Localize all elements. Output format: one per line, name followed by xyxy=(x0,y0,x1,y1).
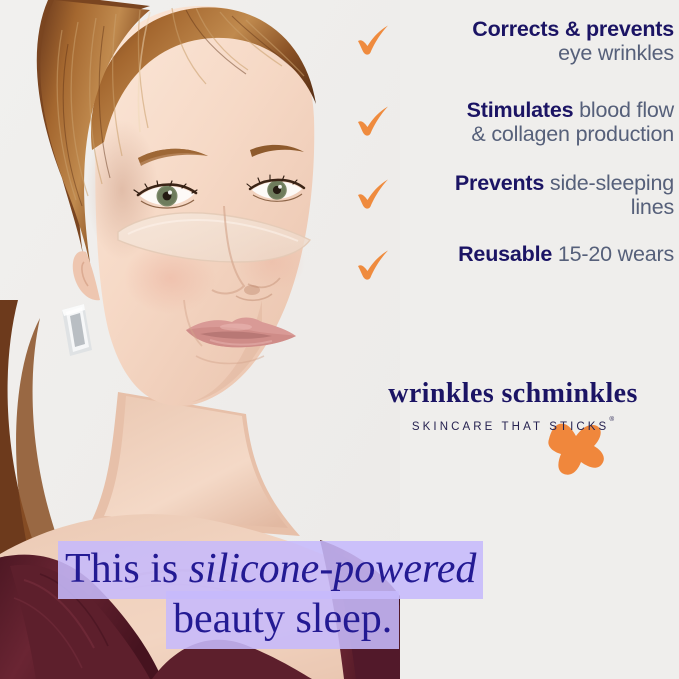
brand-wordmark: wrinkles schminkles xyxy=(352,380,674,408)
brand-tagline-text: SKINCARE THAT STICKS xyxy=(412,421,609,433)
benefit-text: Corrects & prevents eye wrinkles xyxy=(400,14,674,65)
orange-check-icon xyxy=(352,172,396,216)
orange-check-icon xyxy=(352,99,396,143)
orange-check-icon xyxy=(352,18,396,62)
model-photo xyxy=(0,0,400,679)
brand-logo: wrinkles schminkles SKINCARE THAT STICKS… xyxy=(352,380,674,459)
benefit-item: Corrects & prevents eye wrinkles xyxy=(352,14,674,65)
benefit-strong: Stimulates xyxy=(467,98,574,122)
benefit-text: Reusable 15-20 wears xyxy=(400,239,674,266)
benefit-strong: Reusable xyxy=(458,242,552,266)
brand-tagline-wrap: SKINCARE THAT STICKS® xyxy=(352,417,674,459)
benefit-light: blood flow xyxy=(573,98,674,122)
brand-tagline: SKINCARE THAT STICKS® xyxy=(412,421,614,433)
ad-creative: Corrects & prevents eye wrinkles Stimula… xyxy=(0,0,679,679)
model-photo-illustration xyxy=(0,0,400,679)
benefit-list: Corrects & prevents eye wrinkles Stimula… xyxy=(352,14,674,309)
benefit-light: & collagen production xyxy=(471,122,674,146)
benefit-strong: Prevents xyxy=(455,171,544,195)
benefit-item: Stimulates blood flow & collagen product… xyxy=(352,95,674,146)
benefit-light: eye wrinkles xyxy=(558,41,674,65)
benefit-strong: Corrects & prevents xyxy=(472,17,674,41)
orange-check-icon xyxy=(352,243,396,287)
benefit-light: 15-20 wears xyxy=(552,242,674,266)
benefit-item: Reusable 15-20 wears xyxy=(352,239,674,287)
benefit-light: lines xyxy=(631,195,674,219)
benefit-text: Prevents side-sleeping lines xyxy=(400,168,674,219)
registered-mark: ® xyxy=(609,416,614,423)
benefit-light: side-sleeping xyxy=(544,171,674,195)
benefit-text: Stimulates blood flow & collagen product… xyxy=(400,95,674,146)
benefit-item: Prevents side-sleeping lines xyxy=(352,168,674,219)
